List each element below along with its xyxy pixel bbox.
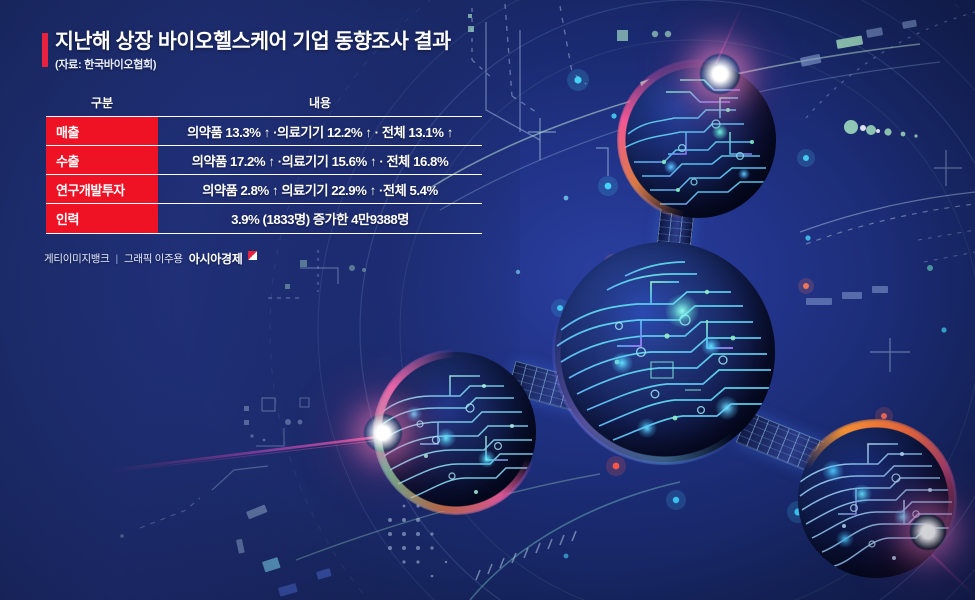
title-accent-bar xyxy=(42,33,48,67)
table-row: 인력 3.9% (1833명) 증가한 4만9388명 xyxy=(46,204,482,233)
row-value-exports: 의약품 17.2% ↑ ·의료기기 15.6% ↑ · 전체 16.8% xyxy=(158,146,482,174)
row-label-workforce: 인력 xyxy=(46,204,158,233)
credit-brand: 아시아경제 xyxy=(189,250,243,267)
table-body: 매출 의약품 13.3% ↑ ·의료기기 12.2% ↑ · 전체 13.1% … xyxy=(46,116,482,234)
row-value-workforce: 3.9% (1833명) 증가한 4만9388명 xyxy=(158,204,482,233)
credit-line: 게티이미지뱅크 | 그래픽 이주용 아시아경제 xyxy=(44,250,257,267)
row-label-exports: 수출 xyxy=(46,146,158,174)
row-value-rnd-investment: 의약품 2.8% ↑ 의료기기 22.9% ↑ ·전체 5.4% xyxy=(158,175,482,203)
table-row: 매출 의약품 13.3% ↑ ·의료기기 12.2% ↑ · 전체 13.1% … xyxy=(46,117,482,146)
row-label-rnd-investment: 연구개발투자 xyxy=(46,175,158,203)
credit-separator: | xyxy=(116,253,118,265)
column-header-content: 내용 xyxy=(158,94,482,111)
row-label-sales: 매출 xyxy=(46,117,158,145)
table-row: 수출 의약품 17.2% ↑ ·의료기기 15.6% ↑ · 전체 16.8% xyxy=(46,146,482,175)
table-header-row: 구분 내용 xyxy=(46,94,482,116)
credit-graphic-by: 그래픽 이주용 xyxy=(124,251,183,266)
stats-table: 구분 내용 매출 의약품 13.3% ↑ ·의료기기 12.2% ↑ · 전체 … xyxy=(46,94,482,234)
table-row: 연구개발투자 의약품 2.8% ↑ 의료기기 22.9% ↑ ·전체 5.4% xyxy=(46,175,482,204)
infographic-canvas: 지난해 상장 바이오헬스케어 기업 동향조사 결과 (자료: 한국바이오협회) … xyxy=(0,0,975,600)
page-title: 지난해 상장 바이오헬스케어 기업 동향조사 결과 xyxy=(55,29,451,55)
page-subtitle: (자료: 한국바이오협회) xyxy=(55,56,451,72)
credit-photo-source: 게티이미지뱅크 xyxy=(44,251,110,266)
title-block: 지난해 상장 바이오헬스케어 기업 동향조사 결과 (자료: 한국바이오협회) xyxy=(42,29,451,72)
brand-logo-icon xyxy=(248,251,257,260)
column-header-category: 구분 xyxy=(46,94,158,111)
row-value-sales: 의약품 13.3% ↑ ·의료기기 12.2% ↑ · 전체 13.1% ↑ xyxy=(158,117,482,145)
info-panel: 지난해 상장 바이오헬스케어 기업 동향조사 결과 (자료: 한국바이오협회) … xyxy=(0,0,520,300)
